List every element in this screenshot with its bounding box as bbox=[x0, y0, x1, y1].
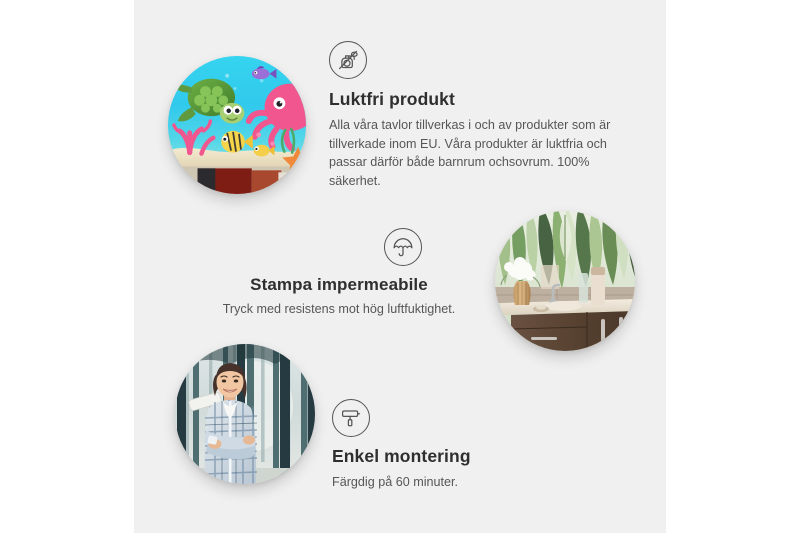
feature-title: Luktfri produkt bbox=[329, 89, 621, 111]
feature-title: Enkel montering bbox=[332, 446, 582, 468]
icon-row bbox=[214, 228, 464, 266]
bathroom-tropical-wallpaper-circle-image bbox=[495, 211, 635, 351]
woman-forest-artwork bbox=[175, 344, 315, 484]
umbrella-icon bbox=[384, 228, 422, 266]
feature-montering: Enkel montering Färgdig på 60 minuter. bbox=[332, 399, 582, 492]
feature-description: Färgdig på 60 minuter. bbox=[332, 473, 582, 492]
bathroom-scene-artwork bbox=[495, 211, 635, 351]
feature-description: Alla våra tavlor tillverkas i och av pro… bbox=[329, 116, 621, 191]
underwater-scene-artwork bbox=[168, 56, 306, 194]
no-odor-spray-icon bbox=[329, 41, 367, 79]
feature-luktfri: Luktfri produkt Alla våra tavlor tillver… bbox=[329, 41, 621, 190]
feature-banner: Luktfri produkt Alla våra tavlor tillver… bbox=[0, 0, 800, 533]
paint-roller-icon bbox=[332, 399, 370, 437]
feature-description: Tryck med resistens mot hög luftfuktighe… bbox=[214, 300, 464, 319]
woman-paint-roller-forest-circle-image bbox=[175, 344, 315, 484]
feature-impermeabile: Stampa impermeabile Tryck med resistens … bbox=[214, 228, 464, 319]
feature-title: Stampa impermeabile bbox=[214, 274, 464, 295]
underwater-cartoon-circle-image bbox=[168, 56, 306, 194]
